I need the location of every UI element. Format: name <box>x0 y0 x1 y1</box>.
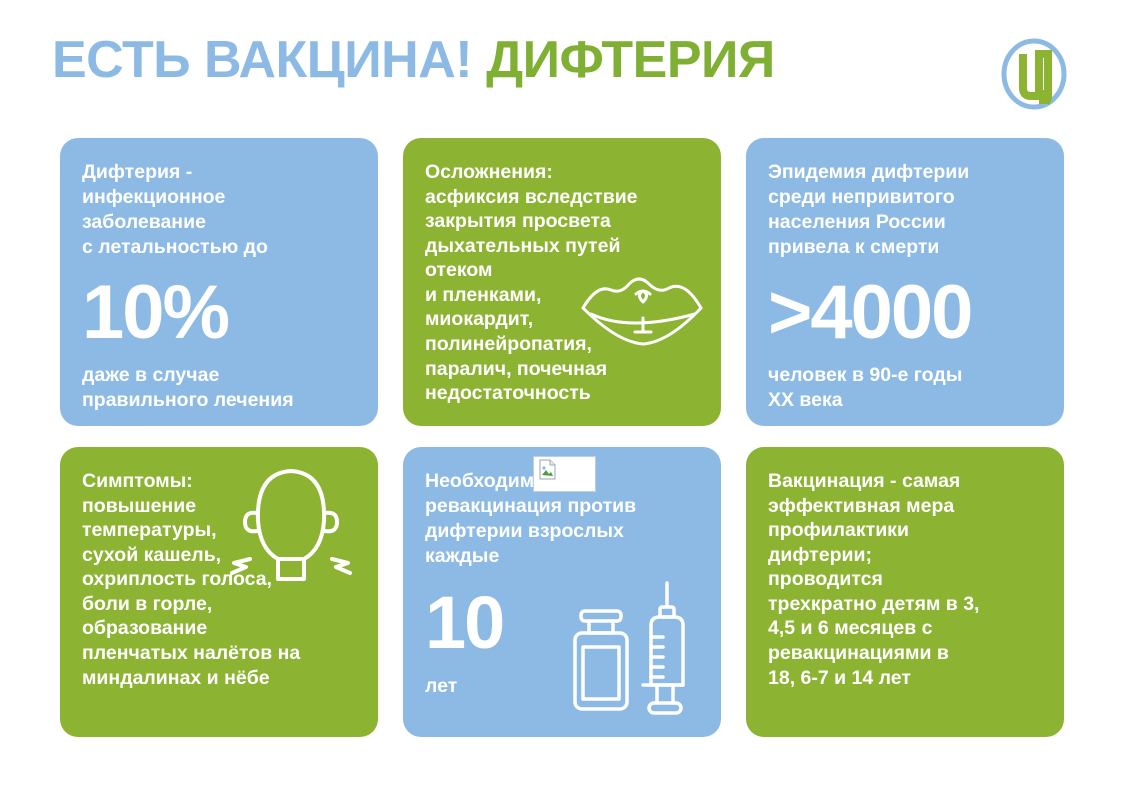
card-prevention-text: Вакцинация - самая эффективная мера проф… <box>768 469 1044 690</box>
card-definition-big-number: 10% <box>82 275 358 351</box>
cards-grid: Дифтерия - инфекционное заболевание с ле… <box>60 138 1064 738</box>
page-header: ЕСТЬ ВАКЦИНА! ДИФТЕРИЯ <box>0 0 1122 120</box>
card-epidemic-text-bottom: человек в 90-е годы XX века <box>768 363 1044 413</box>
card-definition: Дифтерия - инфекционное заболевание с ле… <box>60 138 378 426</box>
card-symptoms-text: Симптомы: повышение температуры, сухой к… <box>82 469 358 690</box>
card-definition-text-top: Дифтерия - инфекционное заболевание с ле… <box>82 160 358 261</box>
title-part-diphtheria: ДИФТЕРИЯ <box>486 34 775 86</box>
card-complications-text: Осложнения: асфиксия вследствие закрытия… <box>425 160 701 406</box>
clinic-logo <box>998 38 1070 110</box>
card-prevention: Вакцинация - самая эффективная мера проф… <box>746 447 1064 737</box>
card-epidemic-text-top: Эпидемия дифтерии среди непривитого насе… <box>768 160 1044 261</box>
title-part-vaccine-exists: ЕСТЬ ВАКЦИНА! <box>52 34 472 86</box>
card-epidemic: Эпидемия дифтерии среди непривитого насе… <box>746 138 1064 426</box>
card-revaccination-big-number: 10 <box>425 586 701 660</box>
card-complications: Осложнения: асфиксия вследствие закрытия… <box>403 138 721 426</box>
page-title: ЕСТЬ ВАКЦИНА! ДИФТЕРИЯ <box>52 34 775 86</box>
card-epidemic-big-number: >4000 <box>768 275 1044 351</box>
card-symptoms: Симптомы: повышение температуры, сухой к… <box>60 447 378 737</box>
card-revaccination-text-bottom: лет <box>425 674 701 699</box>
broken-image-placeholder-icon <box>533 456 596 492</box>
card-definition-text-bottom: даже в случае правильного лечения <box>82 363 358 413</box>
card-revaccination: Необходима ревакцинация против дифтерии … <box>403 447 721 737</box>
